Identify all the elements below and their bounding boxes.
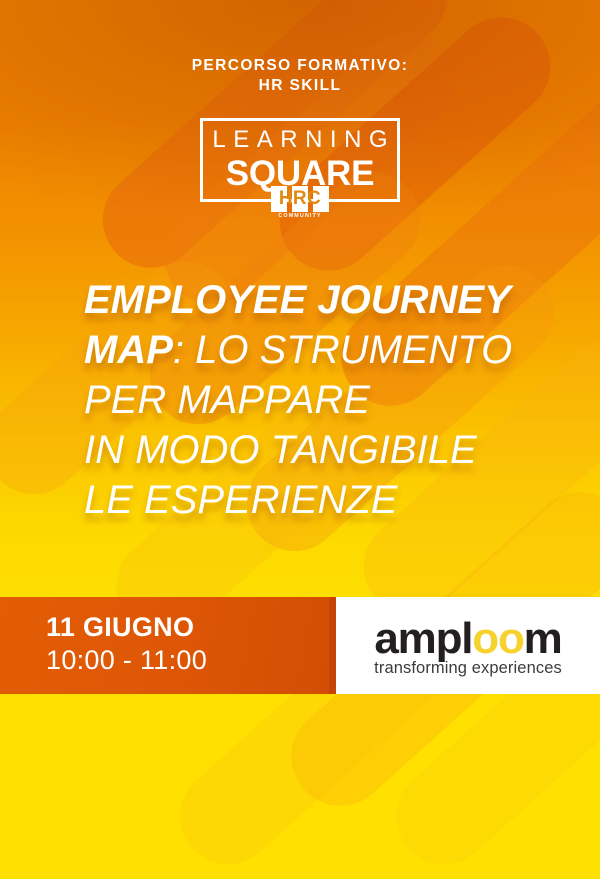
amploom-tagline: transforming experiences: [336, 660, 600, 677]
headline-line-1: EMPLOYEE JOURNEY: [84, 275, 554, 325]
event-date: 11 GIUGNO: [46, 612, 194, 643]
headline-line-2-rest: : LO STRUMENTO: [173, 328, 512, 372]
amploom-part-1: ampl: [374, 614, 472, 663]
headline-line-3: PER MAPPARE: [84, 375, 554, 425]
hrc-text: HRC: [271, 186, 329, 212]
event-time: 10:00 - 11:00: [46, 645, 207, 676]
hrc-community-text: COMMUNITY: [271, 213, 329, 219]
headline-line-5: LE ESPERIENZE: [84, 475, 554, 525]
amploom-logo-panel: amploom transforming experiences: [336, 597, 600, 694]
amploom-wordmark: amploom: [336, 617, 600, 661]
headline: EMPLOYEE JOURNEY MAP: LO STRUMENTO PER M…: [84, 275, 554, 525]
headline-line-2: MAP: LO STRUMENTO: [84, 325, 554, 375]
logo-learning-text: LEARNING: [203, 128, 397, 152]
header-line-1: PERCORSO FORMATIVO:: [0, 56, 600, 76]
headline-line-4: IN MODO TANGIBILE: [84, 425, 554, 475]
headline-line-1-bold: EMPLOYEE JOURNEY: [84, 278, 511, 322]
course-header: PERCORSO FORMATIVO: HR SKILL: [0, 56, 600, 97]
header-line-2: HR SKILL: [0, 76, 600, 96]
hrc-community-badge: HRC COMMUNITY: [271, 186, 329, 224]
amploom-part-3: m: [524, 614, 562, 663]
promotional-poster: PERCORSO FORMATIVO: HR SKILL LEARNING SQ…: [0, 0, 600, 879]
amploom-part-oo: oo: [472, 614, 523, 663]
headline-line-2-bold: MAP: [84, 328, 173, 372]
